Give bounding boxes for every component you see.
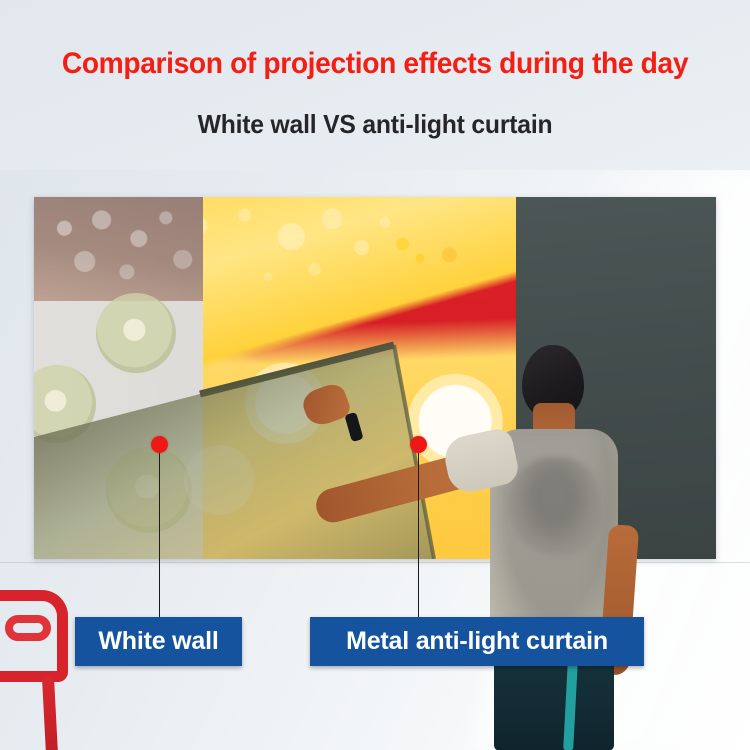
leader-line-white-wall xyxy=(159,452,160,622)
page-title: Comparison of projection effects during … xyxy=(23,47,728,81)
leader-line-metal-curtain xyxy=(418,452,419,622)
kiwi-slice xyxy=(106,447,192,533)
kiwi-slice xyxy=(96,293,176,373)
shirt-shading xyxy=(508,457,600,555)
marker-dot-metal-curtain xyxy=(410,436,427,453)
page-subtitle: White wall VS anti-light curtain xyxy=(19,109,732,140)
chair-handle-cutout xyxy=(5,615,51,641)
callout-white-wall[interactable]: White wall xyxy=(75,617,242,666)
chair-backrest xyxy=(0,590,68,682)
poster-canvas: Comparison of projection effects during … xyxy=(0,0,750,750)
wet-glass-band xyxy=(34,197,203,301)
person-standing xyxy=(470,345,670,750)
kiwi-slice xyxy=(184,445,254,515)
red-chair xyxy=(0,590,74,750)
callout-metal-anti-light-curtain[interactable]: Metal anti-light curtain xyxy=(310,617,644,666)
marker-dot-white-wall xyxy=(151,436,168,453)
projected-image-washed-region xyxy=(34,197,203,559)
chair-leg xyxy=(42,676,58,750)
